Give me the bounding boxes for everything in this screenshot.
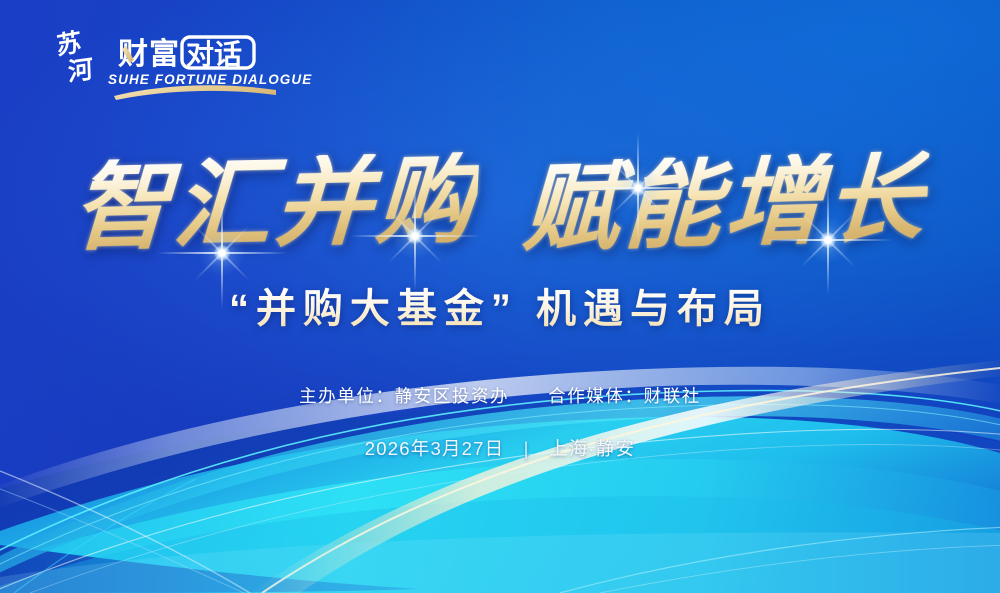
organizer-line: 主办单位：静安区投资办 合作媒体：财联社 (0, 383, 1000, 408)
main-title-part-2: 赋能增长 (521, 150, 930, 258)
subtitle: “并购大基金” 机遇与布局 (0, 286, 1000, 332)
brand-logo[interactable]: 苏 河 财富 对话 SUHE FORTUNE DIALOGUE (52, 26, 292, 94)
date-location-line: 2026年3月27日 | 上海·静安 (0, 435, 1000, 461)
media-label: 合作媒体： (548, 386, 644, 406)
main-title-part-1: 智汇并购 (70, 151, 479, 256)
logo-badge-text: 对话 (186, 39, 242, 70)
event-date: 2026年3月27日 (365, 438, 505, 459)
logo-mark-text: 苏 (56, 28, 83, 60)
date-separator: | (524, 438, 530, 460)
logo-mark-text-2: 河 (68, 55, 94, 87)
event-poster: 苏 河 财富 对话 SUHE FORTUNE DIALOGUE 智汇并购 赋能增… (0, 0, 1000, 593)
host-label: 主办单位： (299, 386, 395, 406)
event-location: 上海·静安 (549, 438, 635, 459)
host-name: 静安区投资办 (395, 386, 510, 406)
logo-name-en: SUHE FORTUNE DIALOGUE (108, 72, 312, 87)
media-name: 财联社 (644, 386, 701, 406)
main-title: 智汇并购 赋能增长 (0, 134, 1000, 274)
